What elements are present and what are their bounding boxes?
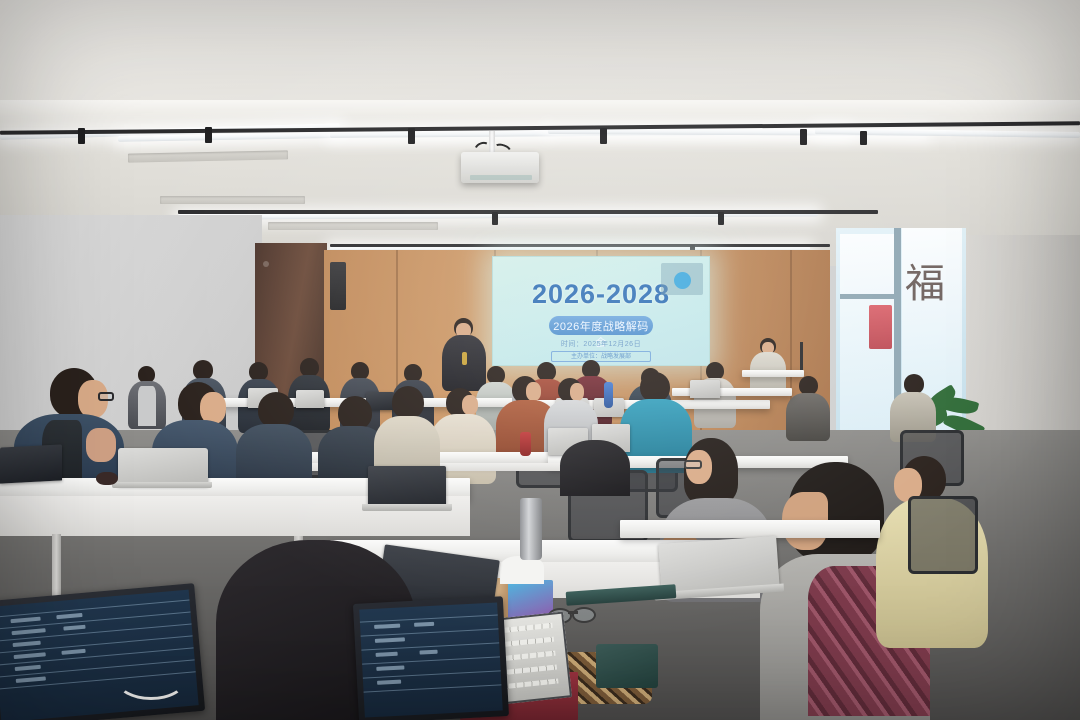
sheet-line <box>363 670 501 678</box>
sheet-cell <box>63 625 85 631</box>
water-bottle[interactable] <box>604 382 613 408</box>
sheet-cell <box>14 652 46 659</box>
sheet-cell <box>419 650 437 655</box>
wall-calligraphy: 福 <box>905 262 935 322</box>
track-node-5 <box>800 129 807 145</box>
sheet-cell <box>12 628 46 635</box>
window-mullion-horizontal <box>840 294 894 299</box>
logo-dot <box>674 272 691 289</box>
sheet-cell <box>376 652 398 657</box>
sheet-cell <box>414 622 434 627</box>
laptop-dark[interactable] <box>0 444 62 483</box>
slide-subtitle-pill: 2026年度战略解码会 <box>549 316 653 335</box>
sheet-cell <box>374 624 400 629</box>
chair-right-3[interactable] <box>908 496 978 574</box>
wall-speaker-left <box>330 262 346 310</box>
face <box>570 383 584 401</box>
track-node-6 <box>860 131 867 145</box>
conference-room-photo: 福 2026-2028 2026年度战略解码会 时间：2025年12月26日 主… <box>0 0 1080 720</box>
laptop-dark[interactable] <box>368 466 446 506</box>
eyeglasses[interactable] <box>572 607 596 623</box>
ceiling-vent-3 <box>160 196 305 204</box>
table-front-right <box>620 520 880 538</box>
face <box>526 382 541 401</box>
dark-notebook[interactable] <box>596 644 658 688</box>
attendee-foreground-small <box>560 440 630 496</box>
open-spreadsheet-2[interactable] <box>359 602 502 717</box>
head <box>258 392 294 428</box>
computer-mouse[interactable] <box>96 472 118 485</box>
sheet-cell <box>13 641 41 647</box>
open-spreadsheet[interactable] <box>0 590 199 720</box>
track-node-7 <box>492 212 498 225</box>
sheet-cell <box>15 665 41 671</box>
ceiling-vent-2 <box>268 222 438 230</box>
slide-date: 时间：2025年12月26日 <box>493 339 709 349</box>
tissue-sheet <box>500 556 544 584</box>
sheet-cell <box>376 665 404 670</box>
hand <box>86 428 116 462</box>
sheet-line <box>361 628 499 636</box>
light-track-rail-lower <box>178 210 878 214</box>
thermos-flask[interactable] <box>520 498 542 560</box>
sheet-cell <box>377 680 401 685</box>
laptop-base <box>362 504 452 511</box>
eyeglasses <box>98 392 114 401</box>
attendee-back-12 <box>786 376 830 438</box>
head <box>904 374 924 394</box>
attendee-grey-back-left <box>236 392 312 492</box>
power-cable <box>116 660 186 700</box>
sheet-line <box>362 656 500 664</box>
window-poster <box>869 305 892 349</box>
door-detail <box>263 261 269 267</box>
sheet-cell <box>56 613 82 619</box>
sheet-cell <box>10 617 40 624</box>
table-leg <box>52 534 61 596</box>
laptop-silver[interactable] <box>690 380 720 398</box>
laptop-silver[interactable] <box>118 448 208 486</box>
head <box>193 360 213 380</box>
microphone <box>462 352 467 365</box>
light-track-rail-lowest <box>330 244 830 247</box>
projector-lens-band <box>470 175 532 180</box>
eyeglasses <box>684 460 702 469</box>
face <box>462 395 478 415</box>
head <box>640 372 670 402</box>
eyeglasses-bridge <box>568 611 578 614</box>
sheet-line <box>364 684 502 692</box>
sheet-cell <box>375 637 405 643</box>
track-node-8 <box>718 212 724 225</box>
water-bottle[interactable] <box>520 432 531 456</box>
track-node-4 <box>600 128 607 144</box>
head <box>560 440 630 496</box>
mic-stand <box>800 342 803 370</box>
track-node-3 <box>408 128 415 144</box>
laptop-base <box>112 482 212 488</box>
open-spreadsheet-laptop[interactable] <box>0 583 205 720</box>
track-node-2 <box>205 127 212 143</box>
sheet-cell <box>61 649 85 655</box>
track-node-1 <box>78 128 85 144</box>
head <box>392 386 424 419</box>
open-spreadsheet-laptop-2[interactable] <box>353 596 509 720</box>
head <box>338 396 372 430</box>
sheet-cell <box>16 676 46 683</box>
body <box>786 393 830 441</box>
standing-assistant <box>748 338 788 394</box>
projection-screen: 2026-2028 2026年度战略解码会 时间：2025年12月26日 主办单… <box>492 256 710 366</box>
company-logo <box>661 263 703 295</box>
